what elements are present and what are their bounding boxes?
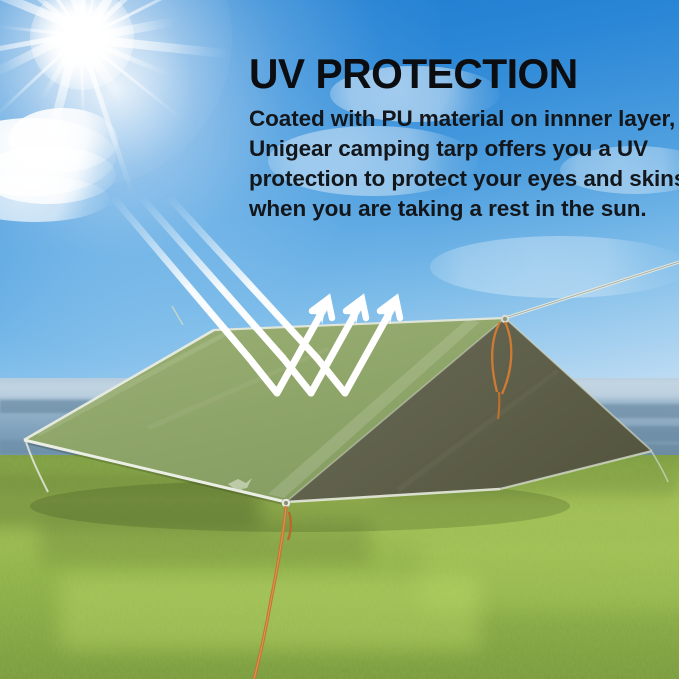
- body-line-2: Unigear camping tarp offers you a UV: [249, 134, 669, 164]
- marketing-copy: UV PROTECTION Coated with PU material on…: [249, 52, 669, 224]
- body-line-1: Coated with PU material on innner layer,: [249, 104, 669, 134]
- grass-field: [0, 455, 679, 679]
- body-line-4: when you are taking a rest in the sun.: [249, 194, 669, 224]
- body-copy: Coated with PU material on innner layer,…: [249, 104, 669, 224]
- product-marketing-image: UV PROTECTION Coated with PU material on…: [0, 0, 679, 679]
- body-line-3: protection to protect your eyes and skin…: [249, 164, 669, 194]
- page-title: UV PROTECTION: [249, 52, 656, 96]
